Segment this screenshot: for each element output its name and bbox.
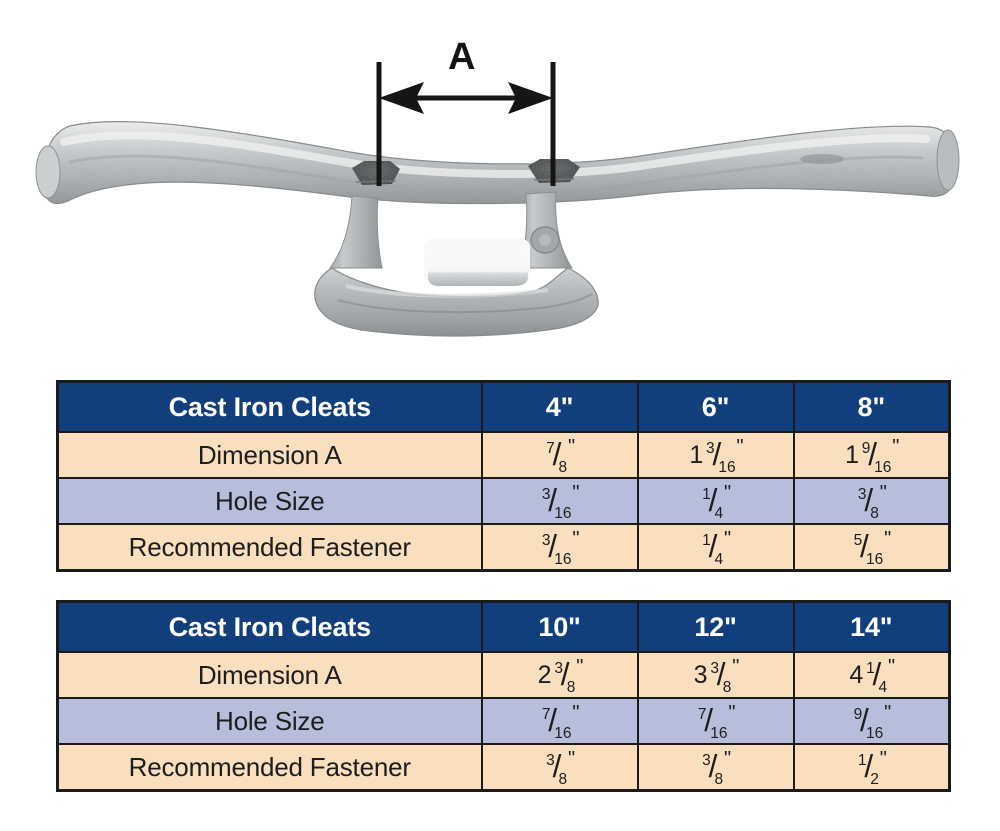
right-horn-tip xyxy=(937,130,959,190)
dimension-a-label: A xyxy=(448,36,475,79)
cell-dimension-a-4in: 7/8" xyxy=(482,432,638,478)
cell-hole-size-8in: 3/8" xyxy=(794,478,950,524)
hole-left-inner-edge xyxy=(356,181,396,182)
cell-hole-size-12in: 7/16" xyxy=(638,698,794,744)
table-row: Recommended Fastener 3/8" 3/8" 1/2" xyxy=(58,744,950,791)
cell-dimension-a-6in: 13/16" xyxy=(638,432,794,478)
row-label-hole-size: Hole Size xyxy=(58,698,482,744)
cell-fastener-4in: 3/16" xyxy=(482,524,638,571)
size-header-4in: 4" xyxy=(482,382,638,433)
row-label-dimension-a: Dimension A xyxy=(58,432,482,478)
table-header-row: Cast Iron Cleats 4" 6" 8" xyxy=(58,382,950,433)
table-title: Cast Iron Cleats xyxy=(58,382,482,433)
casting-boss-center xyxy=(539,234,551,246)
table-body: Dimension A 23/8" 33/8" 41/4" Hole Size … xyxy=(58,652,950,791)
cell-fastener-8in: 5/16" xyxy=(794,524,950,571)
hole-right-inner-edge xyxy=(534,179,574,180)
size-header-12in: 12" xyxy=(638,602,794,653)
cell-fastener-12in: 3/8" xyxy=(638,744,794,791)
row-label-hole-size: Hole Size xyxy=(58,478,482,524)
table-body: Dimension A 7/8" 13/16" 19/16" Hole Size… xyxy=(58,432,950,571)
table-row: Hole Size 3/16" 1/4" 3/8" xyxy=(58,478,950,524)
cast-iron-cleat-photo xyxy=(0,0,1000,368)
row-label-recommended-fastener: Recommended Fastener xyxy=(58,744,482,791)
cell-dimension-a-14in: 41/4" xyxy=(794,652,950,698)
cell-dimension-a-8in: 19/16" xyxy=(794,432,950,478)
table-row: Hole Size 7/16" 7/16" 9/16" xyxy=(58,698,950,744)
row-label-recommended-fastener: Recommended Fastener xyxy=(58,524,482,571)
spec-table-small-sizes: Cast Iron Cleats 4" 6" 8" Dimension A 7/… xyxy=(56,380,951,572)
cell-fastener-6in: 1/4" xyxy=(638,524,794,571)
table-row: Recommended Fastener 3/16" 1/4" 5/16" xyxy=(58,524,950,571)
cell-hole-size-4in: 3/16" xyxy=(482,478,638,524)
cell-hole-size-6in: 1/4" xyxy=(638,478,794,524)
casting-blemish xyxy=(800,154,844,164)
size-header-14in: 14" xyxy=(794,602,950,653)
cell-fastener-10in: 3/8" xyxy=(482,744,638,791)
table-row: Dimension A 7/8" 13/16" 19/16" xyxy=(58,432,950,478)
table-row: Dimension A 23/8" 33/8" 41/4" xyxy=(58,652,950,698)
cleat-diagram-area: A xyxy=(0,0,1000,368)
cell-hole-size-10in: 7/16" xyxy=(482,698,638,744)
cell-hole-size-14in: 9/16" xyxy=(794,698,950,744)
size-header-10in: 10" xyxy=(482,602,638,653)
size-header-6in: 6" xyxy=(638,382,794,433)
row-label-dimension-a: Dimension A xyxy=(58,652,482,698)
left-horn-tip xyxy=(36,146,60,198)
cell-dimension-a-12in: 33/8" xyxy=(638,652,794,698)
size-header-8in: 8" xyxy=(794,382,950,433)
rope-slot-inner-floor xyxy=(428,259,528,286)
spec-table-large-sizes: Cast Iron Cleats 10" 12" 14" Dimension A… xyxy=(56,600,951,792)
table-header-row: Cast Iron Cleats 10" 12" 14" xyxy=(58,602,950,653)
cell-dimension-a-10in: 23/8" xyxy=(482,652,638,698)
table-title: Cast Iron Cleats xyxy=(58,602,482,653)
cell-fastener-14in: 1/2" xyxy=(794,744,950,791)
